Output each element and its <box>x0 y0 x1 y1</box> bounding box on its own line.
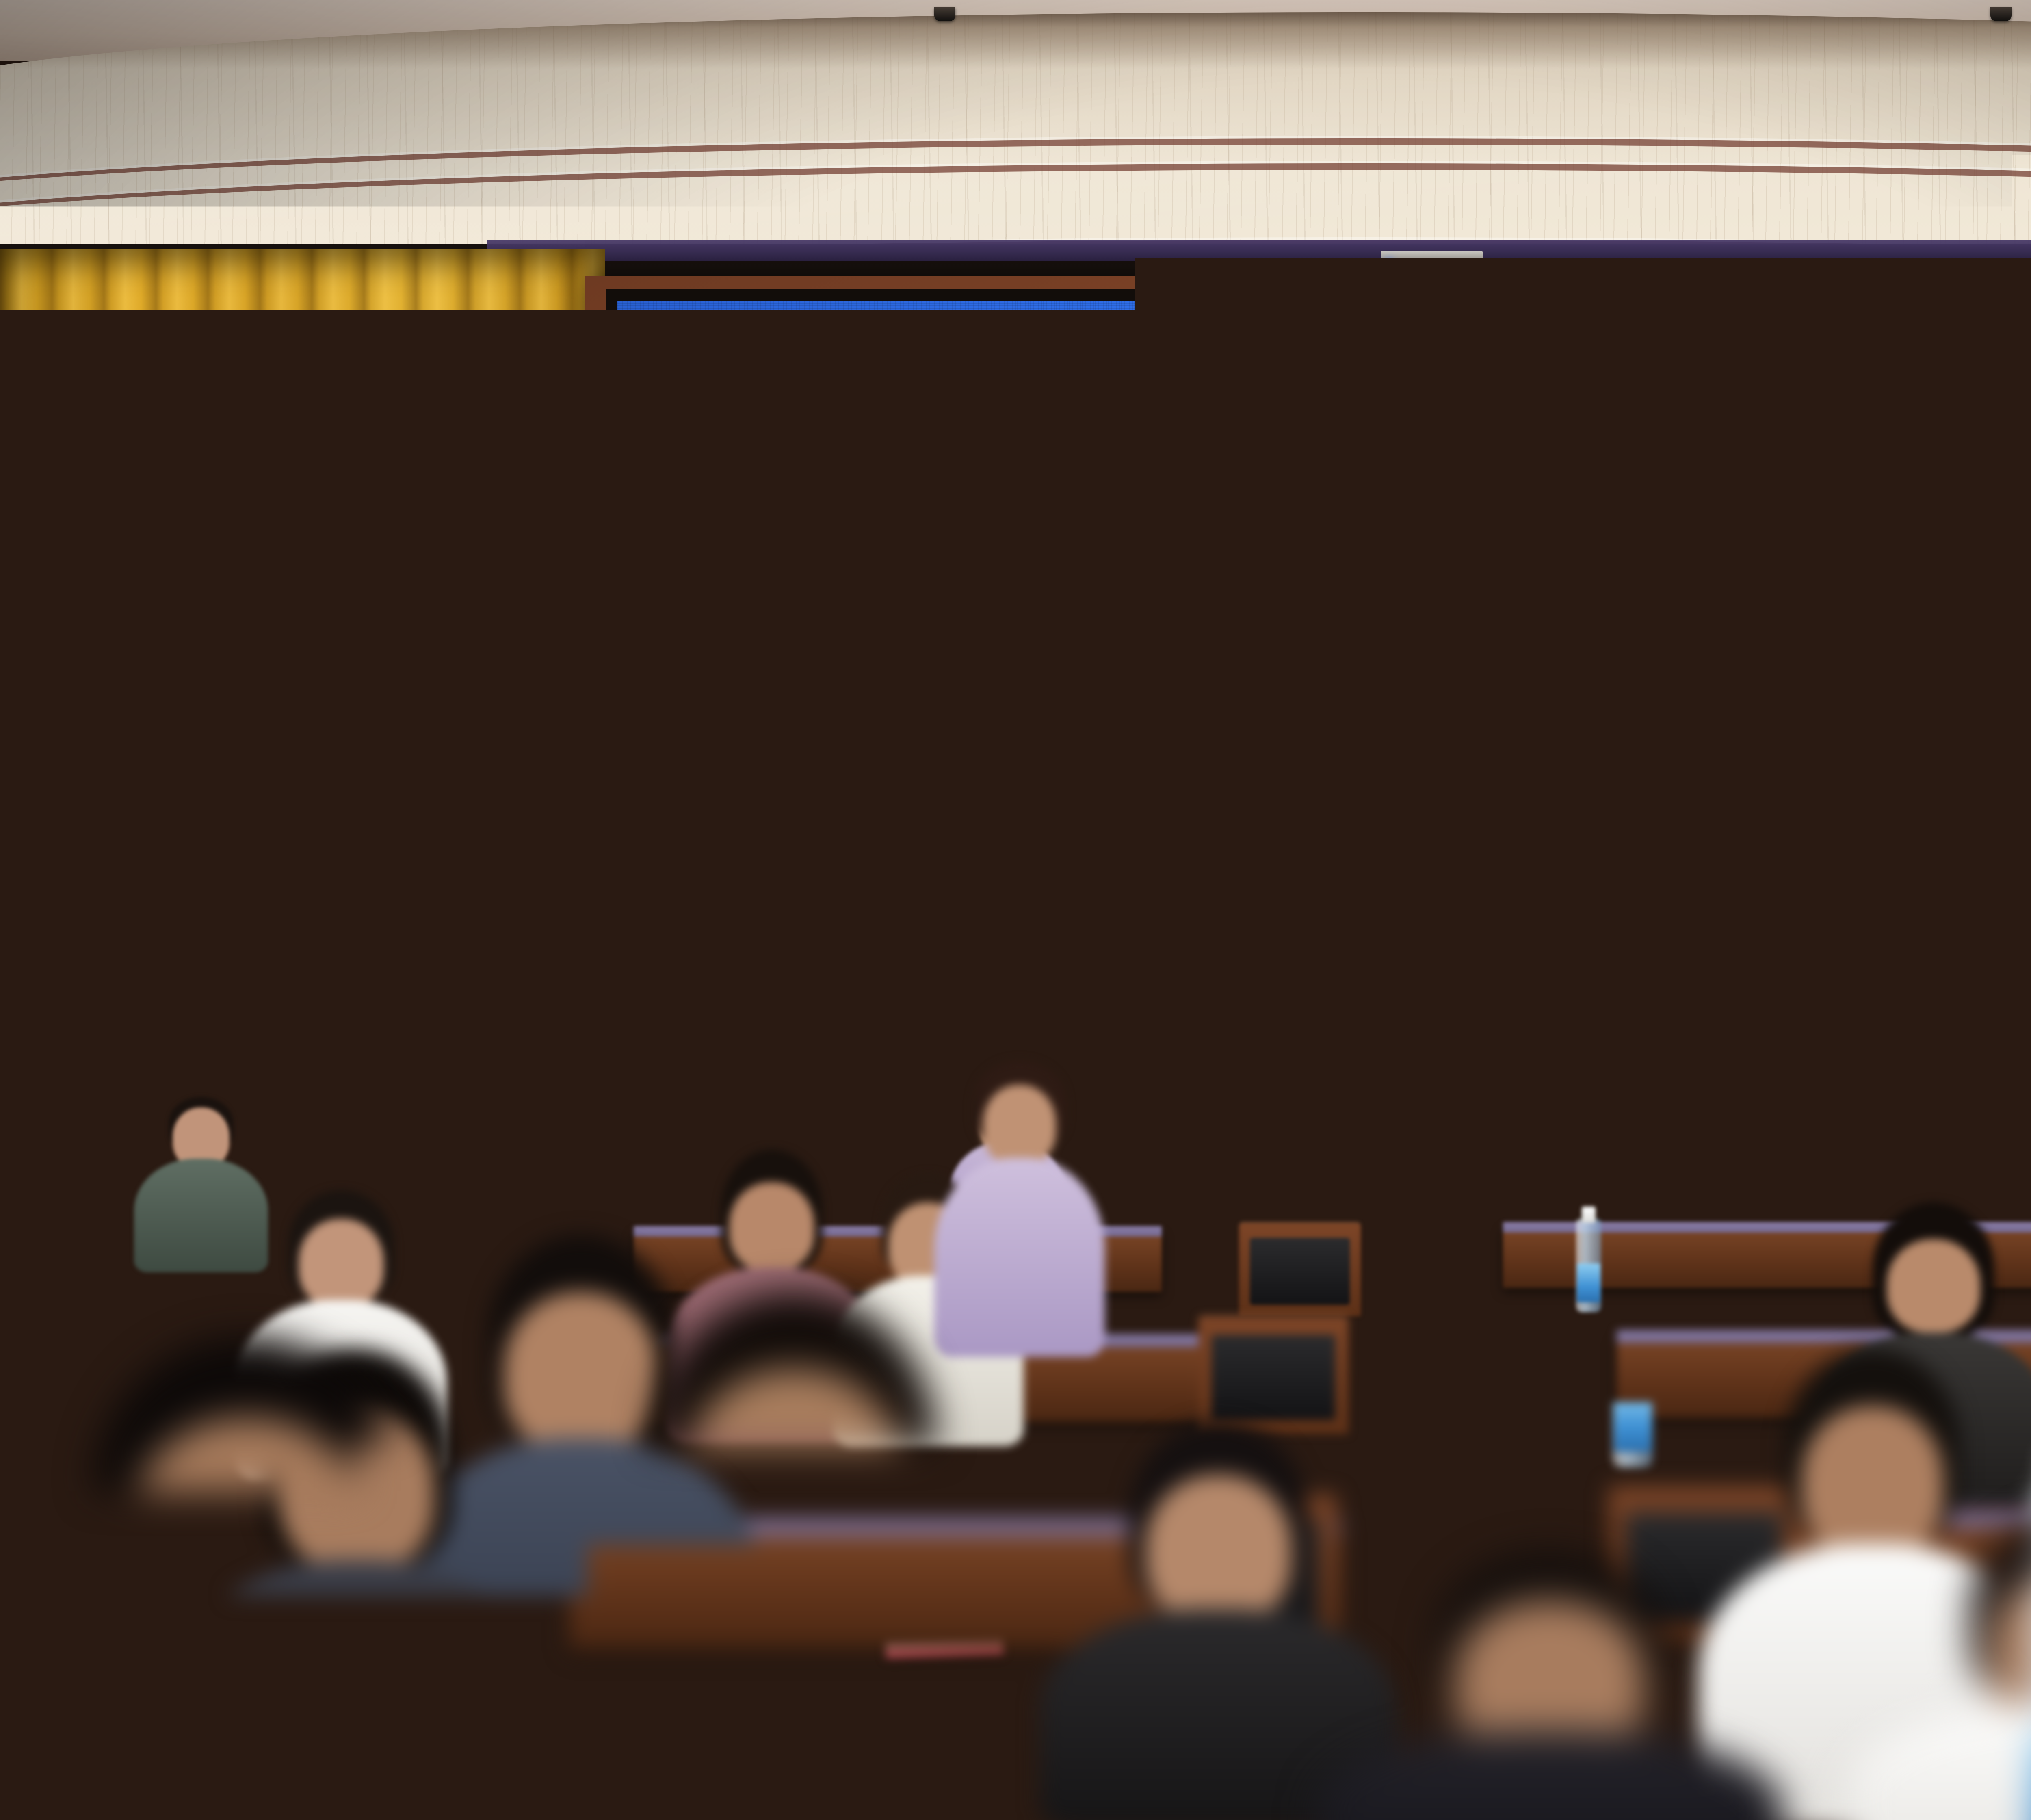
attendee <box>1316 1552 1783 1820</box>
organizer-education-bureau: 黔南州教育局 <box>1450 828 1786 903</box>
camera-mount <box>1381 251 1483 262</box>
glasses-icon <box>1042 925 1123 942</box>
microphone-icon <box>1096 942 1115 961</box>
stage-curtain-left <box>0 249 605 1252</box>
chair <box>1198 1316 1349 1434</box>
attendee <box>0 1337 552 1820</box>
led-display-screen: 黔南州司法行政系统 派出法治副校长2025年度业务培训会 黔南州司法局 黔南州教… <box>617 301 2031 1178</box>
attendee <box>520 1292 1068 1820</box>
chair <box>1239 1223 1361 1316</box>
ceiling-light-icon <box>934 7 955 21</box>
camera-lens-icon <box>1420 284 1445 310</box>
speaker-person <box>967 877 1194 1068</box>
screen-date: 2025年8月 <box>1282 926 1562 995</box>
microphone-base <box>1093 1066 1182 1095</box>
stage-valance <box>487 240 2031 261</box>
camera-status-led <box>1386 258 1392 265</box>
screen-title-line-1: 黔南州司法行政系统 <box>1034 500 1809 580</box>
attendee <box>1848 1511 2031 1820</box>
ceiling-light-icon <box>1990 7 2012 21</box>
conference-hall-photo: 黔南州司法行政系统 派出法治副校长2025年度业务培训会 黔南州司法局 黔南州教… <box>0 0 2031 1820</box>
screen-title-line-2: 派出法治副校长2025年度业务培训会 <box>724 602 2031 682</box>
attendee <box>1649 1097 1779 1259</box>
